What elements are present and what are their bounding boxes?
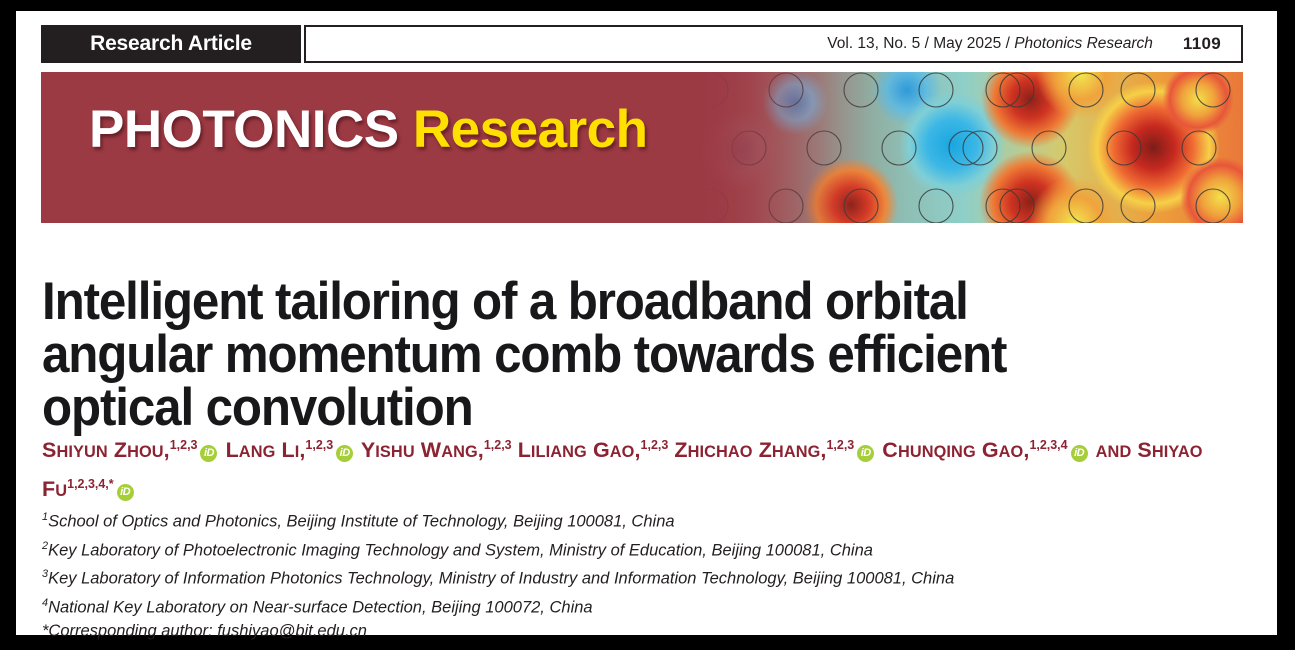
author-affiliation-marker: 1,2,3 bbox=[305, 438, 333, 452]
author-affiliation-marker: 1,2,3 bbox=[484, 438, 512, 452]
journal-title: PHOTONICS Research bbox=[89, 99, 648, 160]
orcid-icon[interactable]: iD bbox=[857, 445, 874, 462]
running-head: Research Article Vol. 13, No. 5 / May 20… bbox=[41, 25, 1243, 63]
author-name: Zhichao Zhang,1,2,3 bbox=[674, 438, 854, 462]
article-page: Research Article Vol. 13, No. 5 / May 20… bbox=[16, 11, 1277, 635]
banner-fade bbox=[683, 72, 1243, 223]
orcid-icon[interactable]: iD bbox=[336, 445, 353, 462]
author-affiliation-marker: 1,2,3 bbox=[170, 438, 198, 452]
author-name: Liliang Gao,1,2,3 bbox=[518, 438, 669, 462]
affiliation-list: 1School of Optics and Photonics, Beijing… bbox=[42, 505, 1232, 643]
author-name: Shiyun Zhou,1,2,3 bbox=[42, 438, 197, 462]
author-conjunction: and bbox=[1096, 443, 1132, 461]
citation-text: Vol. 13, No. 5 / May 2025 / Photonics Re… bbox=[827, 35, 1153, 53]
author-affiliation-marker: 1,2,3 bbox=[641, 438, 669, 452]
author-name: Chunqing Gao,1,2,3,4 bbox=[882, 438, 1067, 462]
orcid-icon[interactable]: iD bbox=[117, 484, 134, 501]
affiliation-marker: 2 bbox=[42, 540, 48, 552]
banner-artwork bbox=[683, 72, 1243, 223]
affiliation-item: 3Key Laboratory of Information Photonics… bbox=[42, 562, 1232, 591]
affiliation-item: 4National Key Laboratory on Near-surface… bbox=[42, 591, 1232, 620]
corresponding-author: *Corresponding author: fushiyao@bit.edu.… bbox=[42, 619, 1232, 643]
author-affiliation-marker: 1,2,3,4,* bbox=[67, 477, 113, 491]
affiliation-item: 2Key Laboratory of Photoelectronic Imagi… bbox=[42, 534, 1232, 563]
orcid-icon[interactable]: iD bbox=[200, 445, 217, 462]
affiliation-marker: 4 bbox=[42, 597, 48, 609]
author-name: Lang Li,1,2,3 bbox=[226, 438, 334, 462]
page-number: 1109 bbox=[1183, 34, 1221, 54]
article-type-badge: Research Article bbox=[41, 25, 301, 63]
citation-journal: Photonics Research bbox=[1014, 35, 1153, 52]
author-affiliation-marker: 1,2,3 bbox=[826, 438, 854, 452]
orcid-icon[interactable]: iD bbox=[1071, 445, 1088, 462]
affiliation-marker: 1 bbox=[42, 511, 48, 523]
journal-masthead-banner: PHOTONICS Research bbox=[41, 72, 1243, 223]
affiliation-item: 1School of Optics and Photonics, Beijing… bbox=[42, 505, 1232, 534]
author-name: Yishu Wang,1,2,3 bbox=[361, 438, 512, 462]
author-affiliation-marker: 1,2,3,4 bbox=[1029, 438, 1067, 452]
author-list: Shiyun Zhou,1,2,3iD Lang Li,1,2,3iD Yish… bbox=[42, 429, 1222, 507]
affiliation-marker: 3 bbox=[42, 568, 48, 580]
journal-title-research: Research bbox=[413, 100, 648, 159]
page-title: Intelligent tailoring of a broadband orb… bbox=[42, 275, 1028, 434]
citation-volume: Vol. 13, No. 5 / May 2025 / bbox=[827, 35, 1014, 52]
citation-box: Vol. 13, No. 5 / May 2025 / Photonics Re… bbox=[304, 25, 1243, 63]
journal-title-photonics: PHOTONICS bbox=[89, 100, 399, 159]
